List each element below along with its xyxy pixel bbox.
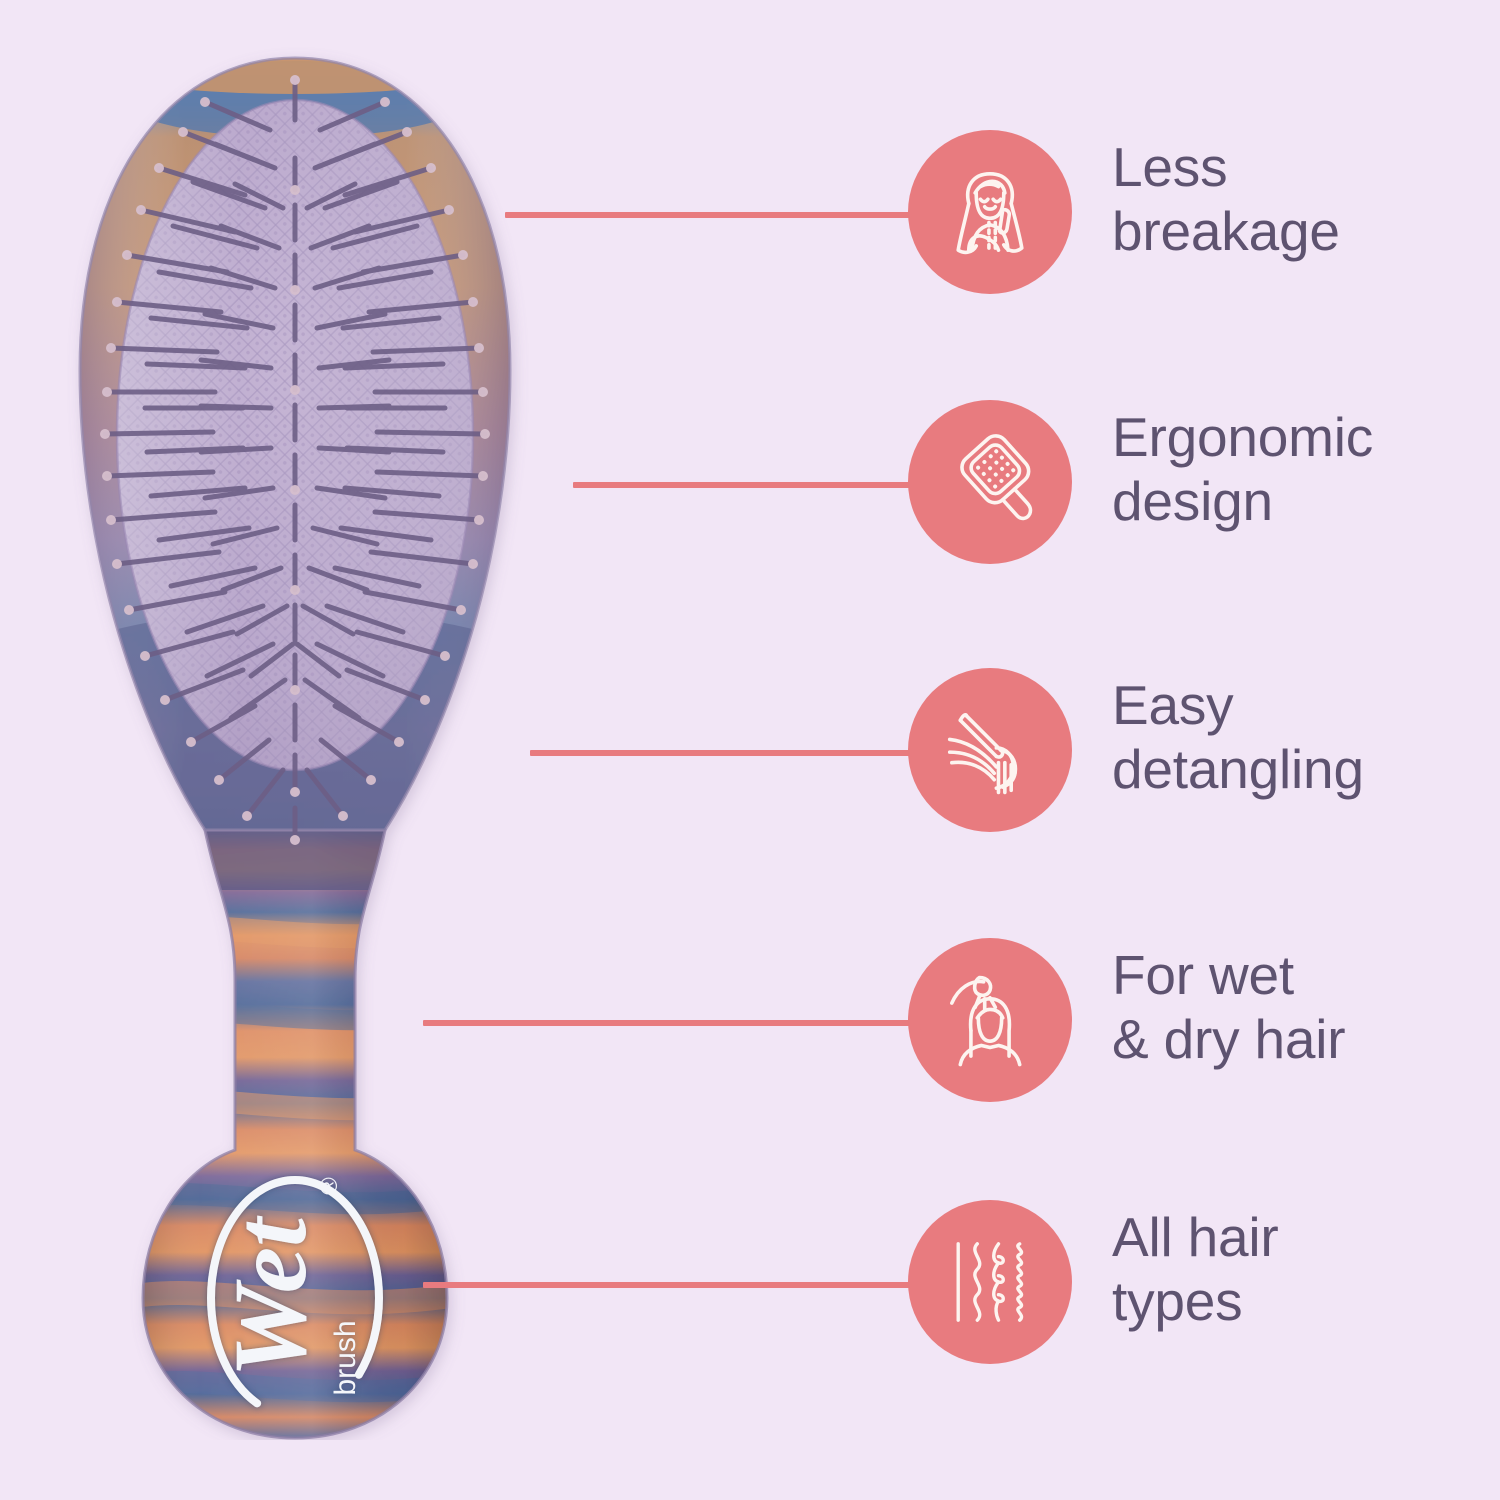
feature-row-all-hair-types: All hair types [0, 1200, 1500, 1370]
leader-line-all-hair-types [423, 1282, 910, 1288]
leader-line-for-wet-and-dry-hair [423, 1020, 910, 1026]
feature-row-easy-detangling: Easy detangling [0, 668, 1500, 838]
paddle-brush-icon [908, 400, 1072, 564]
leader-line-easy-detangling [530, 750, 910, 756]
feature-label-ergonomic-design: Ergonomic design [1112, 406, 1482, 534]
hair-textures-icon [908, 1200, 1072, 1364]
detangling-strands-icon [908, 668, 1072, 832]
feature-label-easy-detangling: Easy detangling [1112, 674, 1482, 802]
infographic-canvas: Wet ® brush [0, 0, 1500, 1500]
girl-brushing-hair-icon [908, 130, 1072, 294]
feature-row-less-breakage: Less breakage [0, 130, 1500, 300]
feature-label-less-breakage: Less breakage [1112, 136, 1482, 264]
feature-list: Less breakage [0, 0, 1500, 1500]
feature-row-for-wet-and-dry-hair: For wet & dry hair [0, 938, 1500, 1108]
leader-line-ergonomic-design [573, 482, 910, 488]
feature-label-all-hair-types: All hair types [1112, 1206, 1482, 1334]
feature-label-for-wet-and-dry-hair: For wet & dry hair [1112, 944, 1482, 1072]
shower-woman-icon [908, 938, 1072, 1102]
feature-row-ergonomic-design: Ergonomic design [0, 400, 1500, 570]
leader-line-less-breakage [505, 212, 910, 218]
